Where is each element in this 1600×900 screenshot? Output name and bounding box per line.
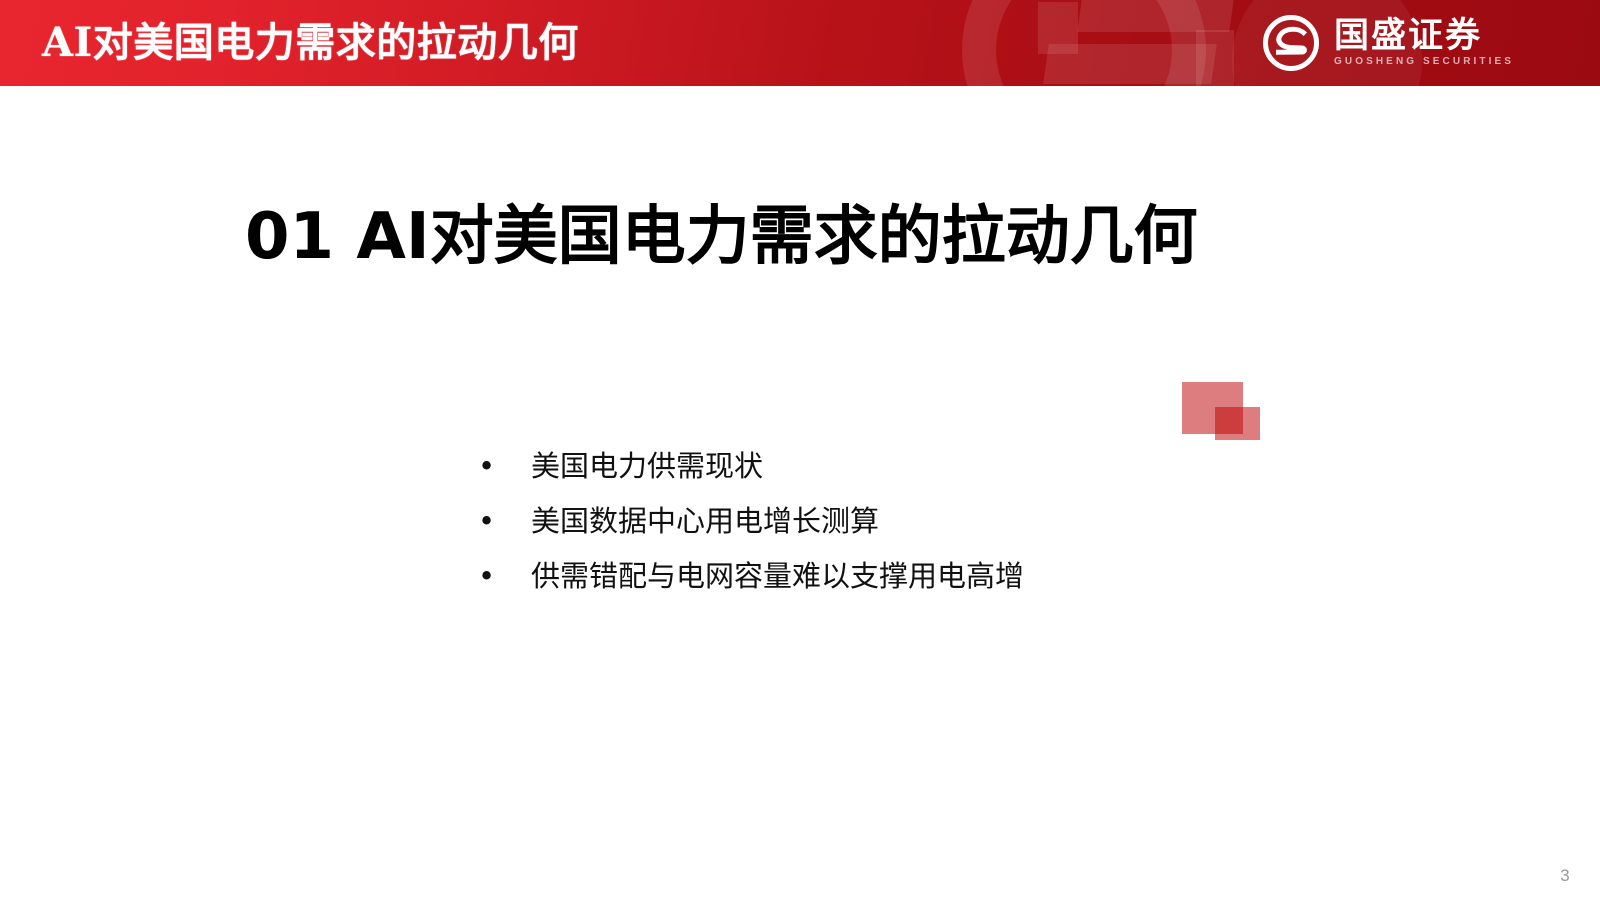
agenda-list: • 美国电力供需现状 • 美国数据中心用电增长测算 • 供需错配与电网容量难以支… <box>478 447 1238 595</box>
header-watermark-s-stroke-top-icon <box>1077 0 1235 32</box>
page-title: 01 AI对美国电力需求的拉动几何 <box>245 196 1198 278</box>
slide-root: AI对美国电力需求的拉动几何 国盛证券 GUOSHENG SECURITIES … <box>0 0 1600 900</box>
company-name-en: GUOSHENG SECURITIES <box>1334 55 1514 69</box>
company-name-cn: 国盛证券 <box>1334 18 1514 55</box>
list-item: • 美国电力供需现状 <box>478 447 1238 485</box>
bullet-dot-icon: • <box>478 557 531 595</box>
header-watermark-s-stroke-bottom-icon <box>1043 44 1217 84</box>
list-item-label: 美国电力供需现状 <box>531 447 763 485</box>
company-logo: 国盛证券 GUOSHENG SECURITIES <box>1262 12 1514 74</box>
list-item: • 供需错配与电网容量难以支撑用电高增 <box>478 557 1238 595</box>
bullet-dot-icon: • <box>478 502 531 540</box>
list-item-label: 美国数据中心用电增长测算 <box>531 502 879 540</box>
header-title: AI对美国电力需求的拉动几何 <box>42 21 579 65</box>
company-logo-text: 国盛证券 GUOSHENG SECURITIES <box>1334 18 1514 69</box>
guosheng-circle-s-logo-icon <box>1262 14 1320 72</box>
list-item: • 美国数据中心用电增长测算 <box>478 502 1238 540</box>
list-item-label: 供需错配与电网容量难以支撑用电高增 <box>531 557 1024 595</box>
page-number: 3 <box>1548 866 1582 886</box>
bullet-dot-icon: • <box>478 447 531 485</box>
decorative-squares <box>1182 382 1262 442</box>
decorative-square-overlap <box>1215 407 1243 434</box>
header-watermark-s-stroke-right-icon <box>1196 30 1234 86</box>
header-banner: AI对美国电力需求的拉动几何 国盛证券 GUOSHENG SECURITIES <box>0 0 1600 86</box>
